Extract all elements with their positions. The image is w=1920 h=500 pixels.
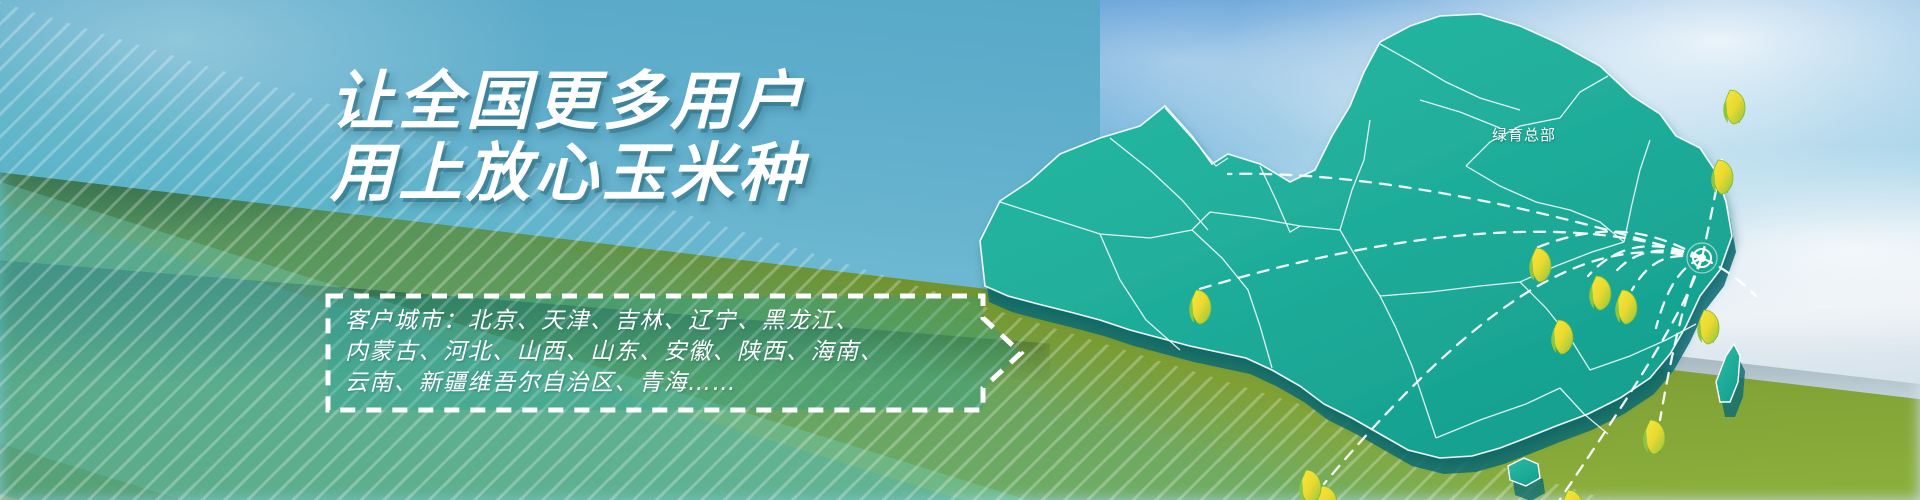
corn-cob-icon: [1711, 160, 1733, 194]
headline-line-1: 让全国更多用户: [330, 66, 850, 138]
city-lines: 客户城市：北京、天津、吉林、辽宁、黑龙江、 内蒙古、河北、山西、山东、安徽、陕西…: [345, 306, 905, 399]
city-line-1: 客户城市：北京、天津、吉林、辽宁、黑龙江、: [345, 306, 905, 337]
headline-block: 让全国更多用户 用上放心玉米种: [330, 66, 850, 210]
promo-banner: 绿育总部 让全国更多用户 用上放心玉米种 客户城市：北京、天津、吉林、辽宁、黑龙…: [0, 0, 1920, 500]
corn-cob-icon: [1299, 470, 1321, 500]
corn-cob-icon: [1643, 420, 1665, 454]
china-distribution-map: [960, 0, 1920, 500]
customer-city-box: 客户城市：北京、天津、吉林、辽宁、黑龙江、 内蒙古、河北、山西、山东、安徽、陕西…: [325, 292, 1025, 414]
map-hainan: [1508, 458, 1545, 500]
map-taiwan: [1716, 344, 1745, 417]
corn-cob-icon: [1723, 90, 1745, 124]
city-line-2: 内蒙古、河北、山西、山东、安徽、陕西、海南、: [345, 337, 905, 368]
city-line-3: 云南、新疆维吾尔自治区、青海……: [345, 368, 905, 399]
headline-line-2: 用上放心玉米种: [330, 138, 850, 210]
hq-label: 绿育总部: [1492, 124, 1556, 145]
